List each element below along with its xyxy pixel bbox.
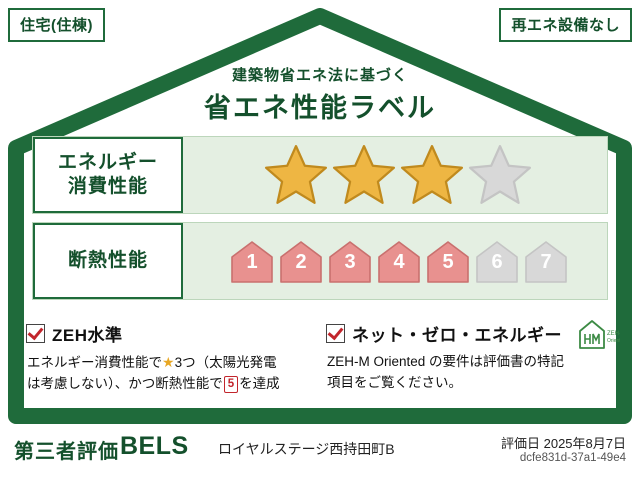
bels-logo: BELS — [120, 432, 189, 461]
property-name: ロイヤルステージ西持田町B — [218, 439, 395, 459]
house-frame — [8, 8, 632, 424]
evaluation-id: dcfe831d-37a1-49e4 — [520, 452, 626, 464]
energy-performance-label: 住宅(住棟) 再エネ設備なし 建築物省エネ法に基づく 省エネ性能ラベル エネルギ… — [0, 0, 640, 477]
third-party-evaluation-label: 第三者評価 — [14, 435, 119, 464]
footer: 第三者評価 BELS ロイヤルステージ西持田町B 評価日 2025年8月7日 d… — [0, 427, 640, 477]
evaluation-date: 評価日 2025年8月7日 — [501, 433, 626, 452]
